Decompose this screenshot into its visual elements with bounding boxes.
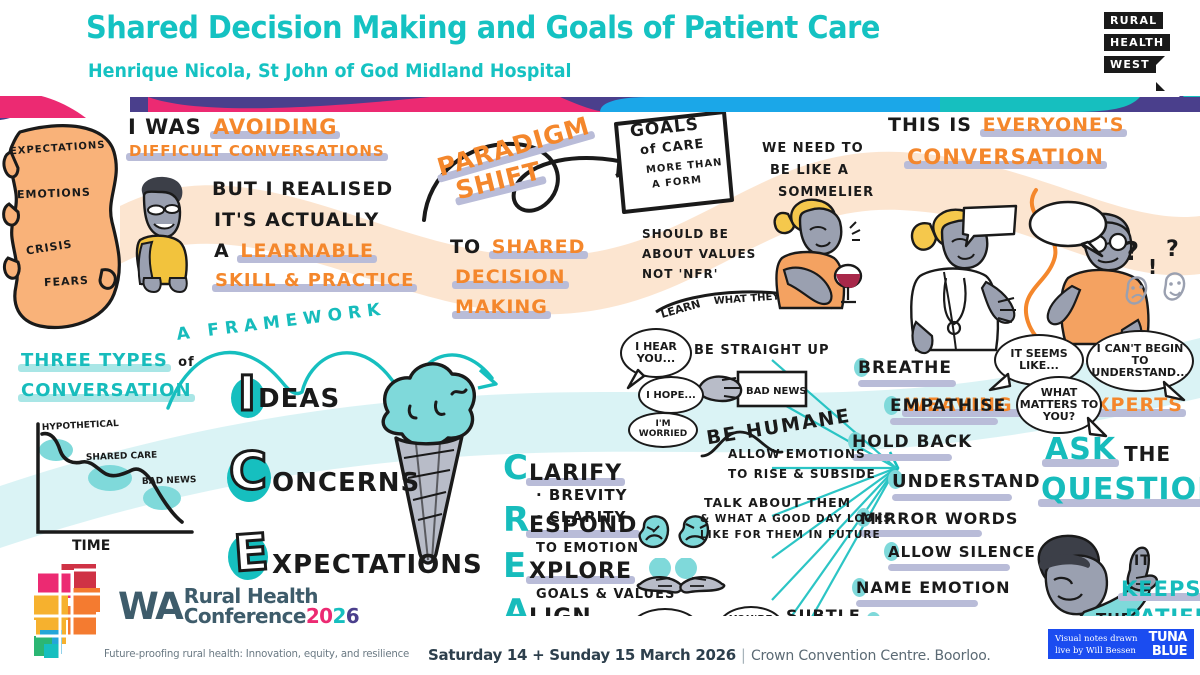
opening-line-1-accent: AVOIDING [210, 116, 340, 138]
skill-understand: UNDERSTAND [892, 473, 1041, 492]
skill-mirror-words: MIRROR WORDS [860, 511, 1018, 528]
respond-cap-letter: R [503, 500, 529, 540]
logo-line-1: RURAL [1104, 12, 1163, 29]
svg-text:SHARED CARE: SHARED CARE [86, 451, 158, 463]
date-separator: | [736, 646, 751, 664]
opening-line-4: IT'S ACTUALLY [214, 211, 379, 231]
ideas-label: DEAS [258, 386, 340, 413]
bubble-im-worried: I'M WORRIED [628, 412, 698, 448]
bubble-cant-begin-tail [1160, 380, 1188, 404]
svg-text:HYPOTHETICAL: HYPOTHETICAL [42, 419, 120, 433]
svg-text:BAD NEWS: BAD NEWS [746, 386, 807, 397]
skill-empathise: EMPATHISE [890, 398, 1006, 416]
svg-text:TIME: TIME [72, 538, 110, 554]
skill-pill-6 [888, 564, 1010, 571]
talk-note-3: LIKE FOR THEM IN FUTURE [700, 530, 881, 541]
clarify-sub-1: · BREVITY [536, 488, 627, 504]
respond-sub-1: TO EMOTION [536, 542, 639, 556]
bubble-it-seems-tail [988, 372, 1012, 394]
svg-text:BAD NEWS: BAD NEWS [142, 475, 197, 487]
wa-conference-year: Conference2026 [184, 606, 359, 626]
conference-venue: Crown Convention Centre. Boorloo. [751, 648, 991, 664]
opening-line-6: SKILL & PRACTICE [212, 272, 417, 291]
wa-rural-health: Rural Health [184, 586, 359, 606]
skill-pill-2 [890, 418, 998, 425]
everyone-line-2: CONVERSATION [904, 146, 1107, 168]
studio-line-1: TUNA [1149, 631, 1187, 645]
ideas-cap-letter: I [238, 366, 256, 422]
talk-note-1: TALK ABOUT THEM [704, 496, 851, 509]
blob-item-emotions: EMOTIONS [17, 187, 91, 201]
concerns-cap-letter: C [229, 442, 267, 502]
skill-pill-7 [856, 600, 978, 607]
handshake-icon [636, 558, 726, 600]
values-note-line-2: ABOUT VALUES [642, 248, 756, 261]
credit-text: Visual notes drawn live by Will Bessen [1055, 633, 1137, 658]
respond-label: ESPOND [526, 514, 640, 537]
conference-date-venue: Saturday 14 + Sunday 15 March 2026|Crown… [428, 645, 991, 664]
svg-text:!: ! [1148, 255, 1157, 279]
skill-pill-4 [892, 494, 1012, 501]
rural-health-west-logo: RURAL HEALTH WEST [1104, 9, 1178, 75]
bad-news-card-icon: BAD NEWS [696, 368, 812, 416]
keeps-it: IT [1134, 554, 1151, 569]
skill-breathe: BREATHE [858, 360, 952, 378]
svg-text:?: ? [1166, 237, 1179, 262]
conference-tagline: Future-proofing rural health: Innovation… [104, 648, 409, 660]
paradigm-to-shared: TO SHARED [450, 238, 588, 258]
humane-note-1: ALLOW EMOTIONS [728, 448, 866, 461]
paradigm-decision: DECISION [452, 268, 569, 288]
logo-line-2: HEALTH [1104, 34, 1170, 51]
skill-pill-1 [858, 380, 956, 387]
skill-name-emotion: NAME EMOTION [856, 580, 1011, 597]
health-over-time-chart: HEALTH TIME HYPOTHETICAL SHARED CARE BAD… [14, 412, 214, 560]
conference-dates: Saturday 14 + Sunday 15 March 2026 [428, 646, 736, 664]
blob-item-fears: FEARS [44, 275, 89, 289]
skill-pill-3 [852, 454, 952, 461]
values-note-line-1: SHOULD BE [642, 228, 729, 241]
keeps-keeps: KEEPS [1118, 578, 1200, 600]
header-bar: Shared Decision Making and Goals of Pati… [0, 0, 1200, 96]
concerns-label: ONCERNS [272, 470, 420, 497]
skill-hold-back: HOLD BACK [852, 434, 972, 452]
bubble-i-hope: I HOPE... [638, 376, 704, 414]
opening-line-1-plain: I WAS [128, 115, 202, 139]
tuna-blue-credit-badge: Visual notes drawn live by Will Bessen T… [1048, 629, 1194, 659]
page-title: Shared Decision Making and Goals of Pati… [86, 10, 880, 46]
credit-line-2: live by Will Bessen [1055, 645, 1137, 657]
opening-line-5-accent: LEARNABLE [237, 242, 377, 262]
person-worried-icon [126, 174, 202, 294]
explore-label: XPLORE [526, 560, 635, 583]
opening-line-2: DIFFICULT CONVERSATIONS [126, 144, 388, 160]
expectations-cap-letter: E [232, 523, 270, 583]
sommelier-line-2: BE LIKE A [770, 164, 849, 178]
clinician-speech-box [960, 204, 1020, 252]
sommelier-figure-icon [764, 192, 874, 312]
opening-line-3: BUT I REALISED [212, 180, 393, 200]
svg-text:?: ? [1124, 237, 1139, 267]
logo-line-3: WEST [1104, 56, 1156, 73]
credit-line-1: Visual notes drawn [1055, 633, 1137, 645]
ask-the-word: THE [1124, 444, 1171, 465]
explore-cap-letter: E [503, 546, 526, 586]
sommelier-line-1: WE NEED TO [762, 142, 864, 156]
values-note-line-3: NOT 'NFR' [642, 268, 718, 281]
skill-allow-silence: ALLOW SILENCE [888, 545, 1036, 561]
wa-initials: WA [118, 585, 182, 628]
bubble-what-matters-tail [1086, 416, 1110, 440]
presenter-subtitle: Henrique Nicola, St John of God Midland … [88, 60, 572, 82]
wa-conference-wordmark: WA Rural Health Conference2026 [118, 586, 359, 626]
expectations-label: XPECTATIONS [272, 552, 483, 579]
studio-line-2: BLUE [1149, 645, 1187, 659]
be-straight-up: BE STRAIGHT UP [694, 344, 829, 358]
humane-note-2: TO RISE & SUBSIDE [728, 468, 876, 481]
clarify-cap-letter: C [503, 448, 528, 488]
visual-notes-poster: Shared Decision Making and Goals of Pati… [0, 0, 1200, 675]
wa-map-logo [26, 560, 106, 660]
sketchnote-canvas: EXPECTATIONS EMOTIONS CRISIS FEARS I WAS… [0, 96, 1200, 616]
opening-line-1: I WAS AVOIDING [128, 116, 340, 138]
opening-line-5-plain: A [214, 240, 230, 262]
everyone-line-1: THIS IS EVERYONE'S [888, 116, 1127, 136]
ask-questions-word: QUESTIONS [1038, 474, 1200, 506]
clarify-label: LARIFY [526, 462, 625, 485]
opening-line-5: A LEARNABLE [214, 242, 377, 262]
studio-wordmark: TUNA BLUE [1149, 631, 1187, 660]
patient-speech-bubble [1026, 198, 1112, 260]
header-color-stripe [130, 97, 1200, 112]
